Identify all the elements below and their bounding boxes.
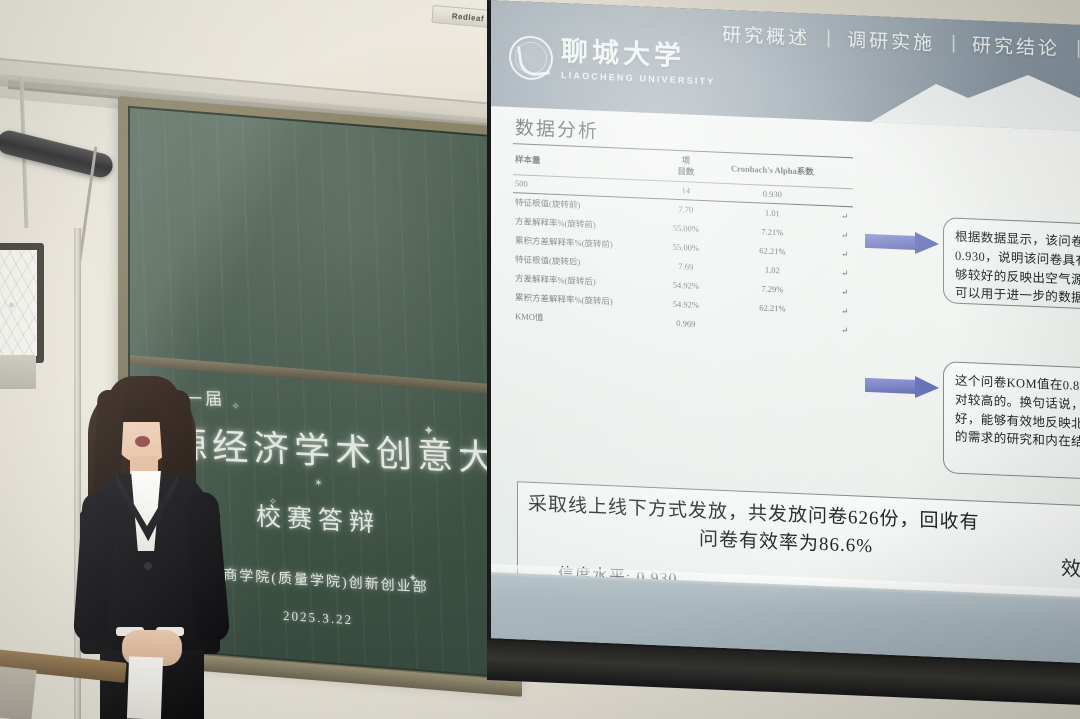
section-title: 数据分析 [515,113,599,144]
col-item-count-bottom: 目数 [677,166,694,177]
row-value-1: 0.969 [664,313,709,334]
arrow-shaft [865,234,917,250]
arrow-head [915,376,939,399]
nav-item-survey[interactable]: 调研实施 [831,24,951,56]
callout-line: 的需求的研究和内在结构。 [955,428,1080,453]
row-value-1: 7.69 [664,256,709,277]
col-item-count-top: 项 [682,155,691,165]
wall-fixture-base [0,355,36,389]
screenshot-root: Redleaf ✦ ✧ ✦ ✧ ✶ ✧ ✦ ❀ ✿ ❧ 第十一届 能源经济学术创… [0,0,1080,719]
cell-mark [837,188,854,207]
nav-item-overview[interactable]: 研究概述 [706,19,826,51]
callout-line: 可以用于进一步的数据分析 [955,284,1080,309]
callout-kmo: 这个问卷KOM值在0.8以上，表 对较高的。换句话说，该问卷 好，能够有效地反映… [943,361,1080,481]
col-item-count: 项 目数 [664,150,709,183]
statistics-table-wrapper: 样本量 项 目数 Cronbach's Alpha系数 500 14 0.930 [513,143,853,340]
row-mark: ↵ [837,264,854,284]
nav-item-conclusion[interactable]: 研究结论 [956,30,1076,62]
chalk-star-icon: ✶ [314,478,322,490]
arrow-right-icon [865,230,939,255]
arrow-head [915,232,939,255]
arrow-shaft [865,378,917,394]
row-value-1: 55.00% [664,237,709,258]
row-mark: ↵ [837,302,854,322]
cutoff-character: 效 [1061,552,1080,582]
slide-nav: 研究概述 | 调研实施 | 研究结论 | [706,19,1080,62]
arrow-right-icon [865,374,939,399]
university-name-zh: 聊城大学 [561,38,716,71]
presenter-jacket-button [144,562,152,570]
university-name-en: LIAOCHENG UNIVERSITY [561,70,716,86]
row-mark: ↵ [837,206,854,226]
row-value-1: 54.92% [664,294,709,315]
wall-picture-frame [0,243,44,363]
nav-separator: | [951,32,956,54]
university-logo: 聊城大学 LIAOCHENG UNIVERSITY [509,35,716,88]
row-mark: ↵ [837,245,854,265]
row-mark: ↵ [837,321,854,341]
row-value-1: 7.70 [664,199,709,220]
col-mark-header [837,157,854,189]
cell-item-count: 14 [664,181,709,201]
nav-separator: | [826,27,831,49]
callout-reliability: 根据数据显示，该问卷的Cro 0.930，说明该问卷具有较好 够较好的反映出空气… [943,217,1080,311]
row-mark: ↵ [837,283,854,303]
row-value-1: 55.00% [664,218,709,239]
row-value-1: 54.92% [664,275,709,296]
slide: 聊城大学 LIAOCHENG UNIVERSITY 研究概述 | 调研实施 | … [491,0,1080,663]
university-seal-icon [509,35,553,81]
classroom-desk-side [0,666,37,719]
row-value-2 [708,315,836,339]
header-mountain-shape [867,66,1080,131]
presenter-mouth [135,436,150,447]
row-mark: ↵ [837,226,854,246]
nav-separator: | [1076,37,1080,59]
wall-picture-art [0,250,37,356]
statistics-table: 样本量 项 目数 Cronbach's Alpha系数 500 14 0.930 [513,143,853,340]
projection-screen: 聊城大学 LIAOCHENG UNIVERSITY 研究概述 | 调研实施 | … [487,0,1080,693]
presenter-papers [127,656,163,719]
